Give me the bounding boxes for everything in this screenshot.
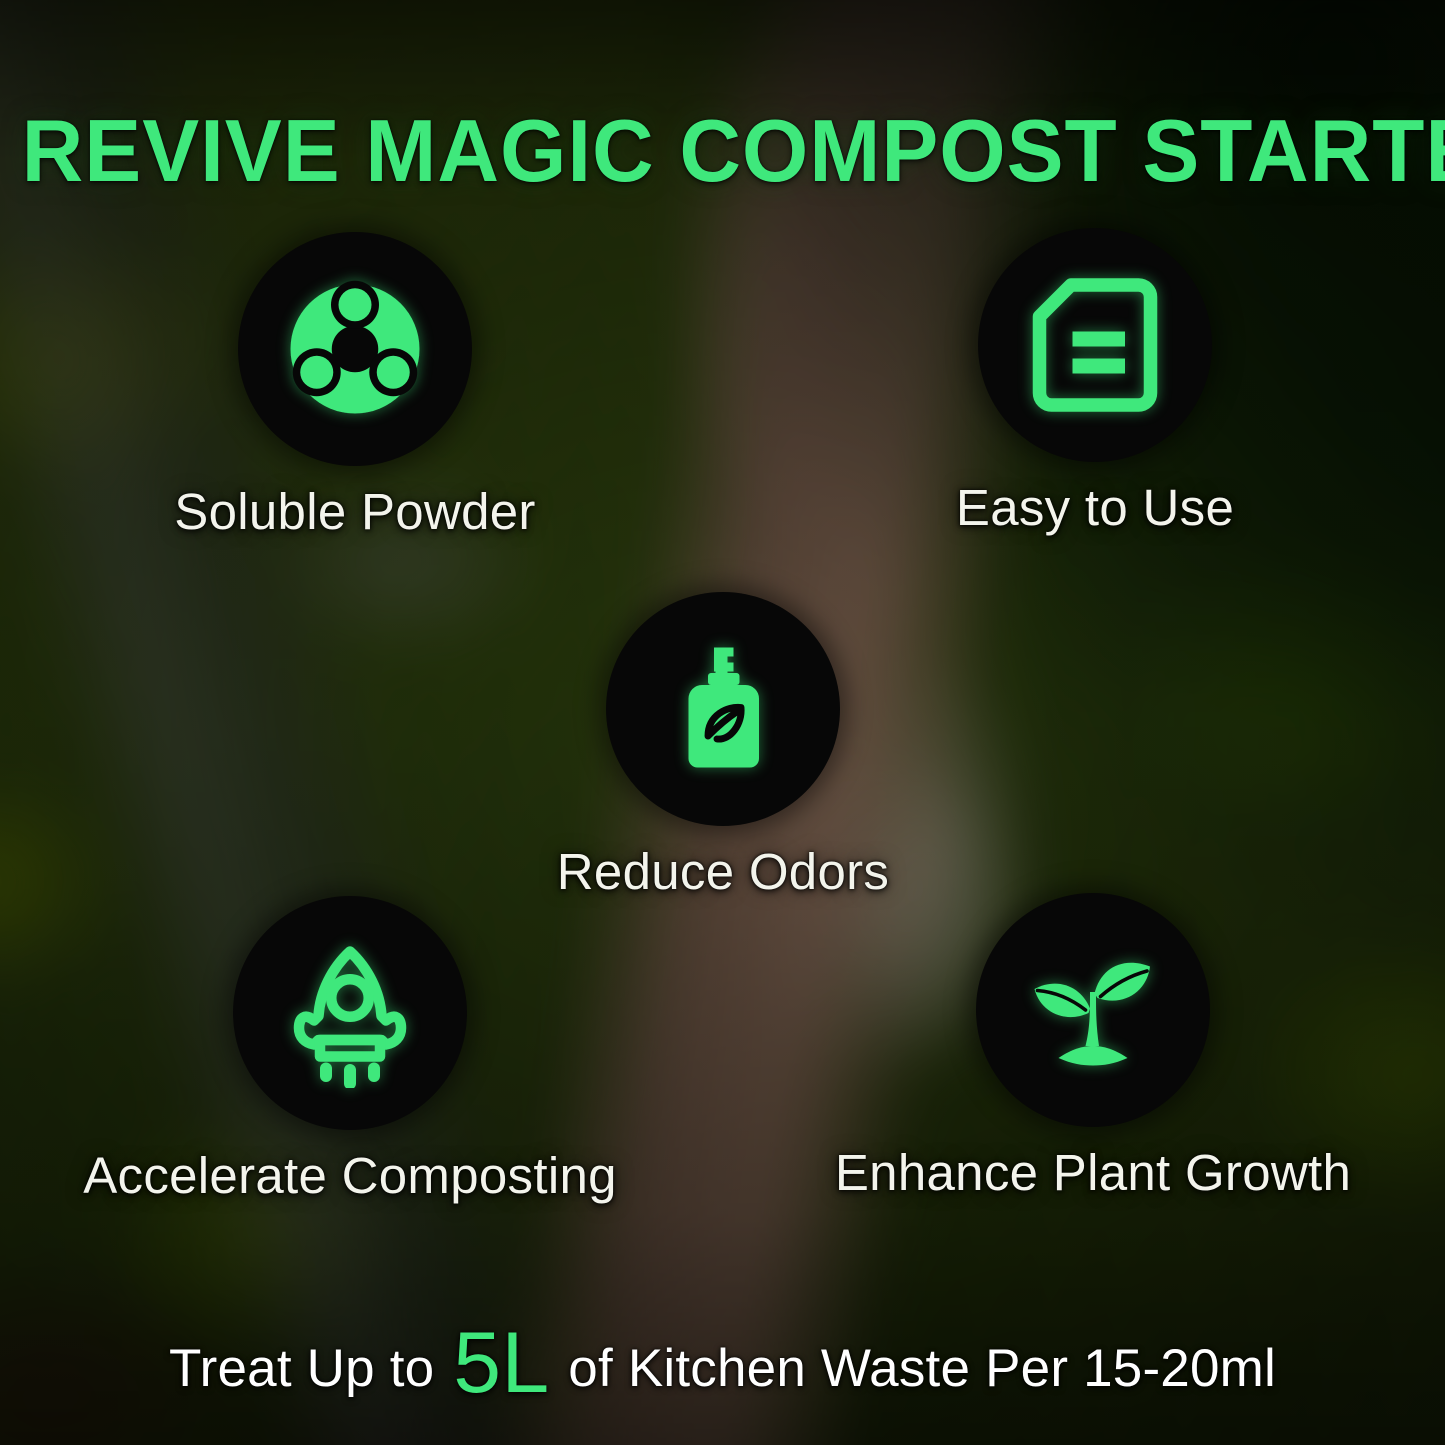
- feature-soluble-powder: Soluble Powder: [123, 232, 587, 541]
- feature-enhance-plant-growth: Enhance Plant Growth: [796, 893, 1390, 1202]
- feature-label: Easy to Use: [863, 478, 1327, 537]
- feature-icon-badge: [978, 228, 1212, 462]
- dosage-footer-note: Treat Up to 5L of Kitchen Waste Per 15-2…: [0, 1338, 1445, 1399]
- feature-label: Accelerate Composting: [53, 1146, 647, 1205]
- sprout-seedling-icon: [1018, 935, 1168, 1085]
- product-feature-infographic: REVIVE MAGIC COMPOST STARTER: [0, 0, 1445, 1445]
- feature-label: Soluble Powder: [123, 482, 587, 541]
- footer-prefix-text: Treat Up to: [169, 1339, 434, 1398]
- molecule-particles-icon: [280, 274, 430, 424]
- feature-label: Enhance Plant Growth: [796, 1143, 1390, 1202]
- feature-reduce-odors: Reduce Odors: [491, 592, 955, 901]
- feature-accelerate-composting: Accelerate Composting: [53, 896, 647, 1205]
- document-instructions-icon: [1020, 270, 1170, 420]
- footer-suffix-text: of Kitchen Waste Per 15-20ml: [568, 1339, 1276, 1398]
- rocket-icon: [275, 938, 425, 1088]
- spray-bottle-leaf-icon: [648, 634, 798, 784]
- feature-icon-badge: [233, 896, 467, 1130]
- feature-icon-badge: [238, 232, 472, 466]
- page-title: REVIVE MAGIC COMPOST STARTER: [22, 106, 1424, 196]
- feature-icon-badge: [606, 592, 840, 826]
- feature-icon-badge: [976, 893, 1210, 1127]
- footer-volume-highlight: 5L: [449, 1315, 553, 1411]
- infographic-content: REVIVE MAGIC COMPOST STARTER: [0, 0, 1445, 1445]
- feature-easy-to-use: Easy to Use: [863, 228, 1327, 537]
